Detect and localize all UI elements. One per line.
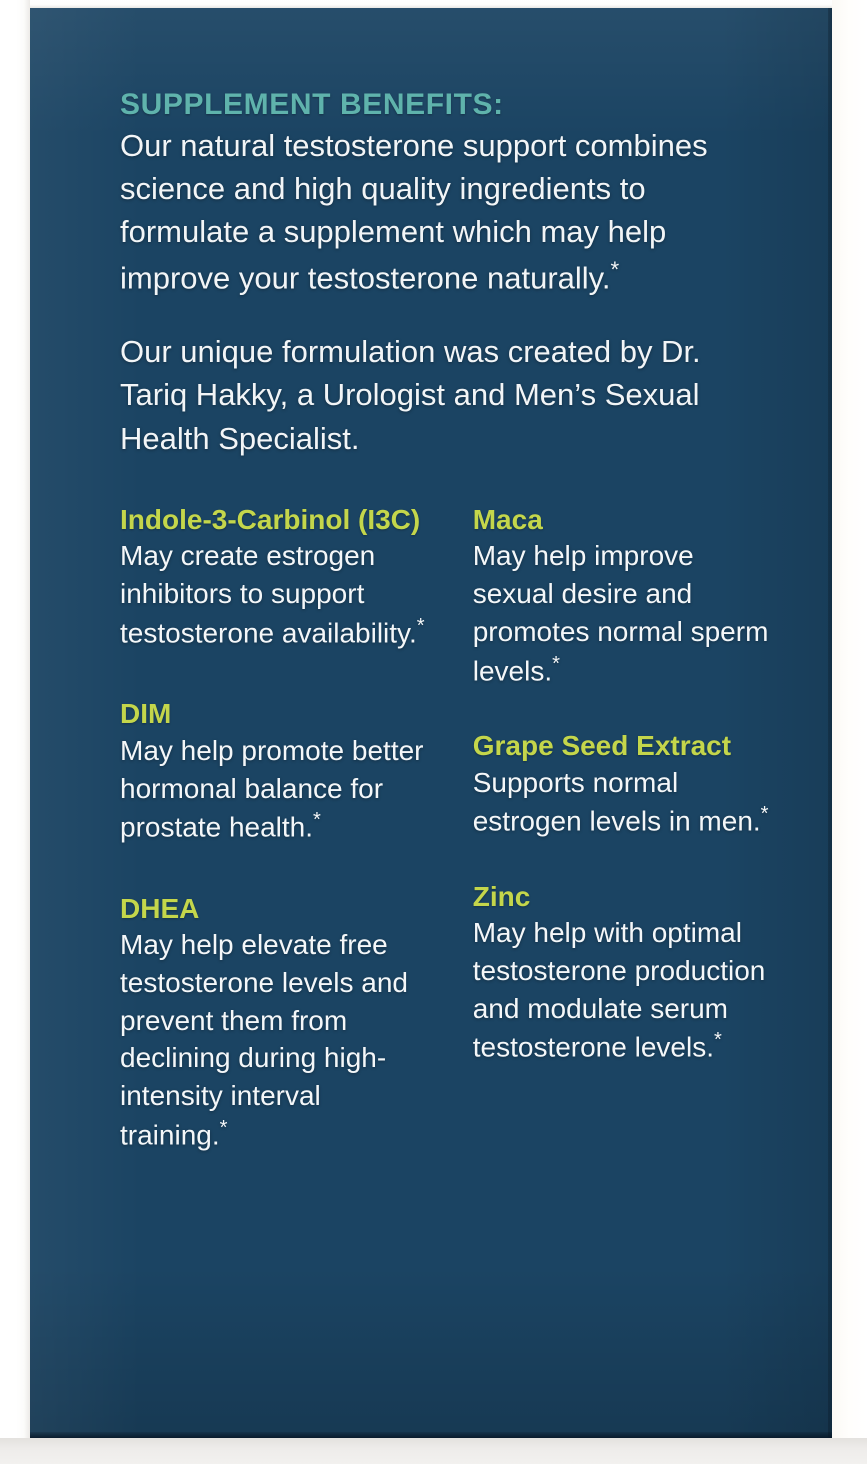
section-heading-supplement-benefits: SUPPLEMENT BENEFITS: [120, 88, 776, 122]
ingredient-name-indole-3-carbinol: Indole-3-Carbinol (I3C) [120, 504, 433, 536]
ingredient-block-zinc: Zinc May help with optimal testosterone … [473, 881, 776, 1067]
ingredient-description-text: May create estrogen inhibitors to suppor… [120, 540, 417, 648]
ingredient-block-grape-seed-extract: Grape Seed Extract Supports normal estro… [473, 730, 776, 841]
footnote-asterisk: * [552, 653, 560, 675]
ingredient-column-left: Indole-3-Carbinol (I3C) May create estro… [120, 504, 433, 1154]
panel-content: SUPPLEMENT BENEFITS: Our natural testost… [30, 8, 832, 1154]
package-right-margin [832, 0, 867, 1464]
panel-bottom-fold-edge [30, 1432, 832, 1438]
ingredient-description-grape-seed-extract: Supports normal estrogen levels in men.* [473, 764, 776, 841]
ingredient-description-indole-3-carbinol: May create estrogen inhibitors to suppor… [120, 537, 433, 652]
package-top-margin [0, 0, 867, 8]
ingredient-block-maca: Maca May help improve sexual desire and … [473, 504, 776, 690]
ingredient-block-dim: DIM May help promote better hormonal bal… [120, 698, 433, 846]
ingredient-column-right: Maca May help improve sexual desire and … [473, 504, 776, 1154]
ingredient-block-indole-3-carbinol: Indole-3-Carbinol (I3C) May create estro… [120, 504, 433, 652]
ingredient-name-dhea: DHEA [120, 893, 433, 925]
footnote-asterisk: * [220, 1117, 228, 1139]
footnote-asterisk: * [313, 809, 321, 831]
intro-paragraph-formulation: Our unique formulation was created by Dr… [120, 330, 760, 460]
ingredient-name-grape-seed-extract: Grape Seed Extract [473, 730, 776, 762]
ingredient-name-zinc: Zinc [473, 881, 776, 913]
supplement-package-panel: SUPPLEMENT BENEFITS: Our natural testost… [0, 0, 867, 1464]
footnote-asterisk: * [714, 1029, 722, 1051]
ingredient-description-text: May help improve sexual desire and promo… [473, 540, 769, 686]
package-left-margin [0, 0, 30, 1464]
ingredient-description-dhea: May help elevate free testosterone level… [120, 926, 433, 1154]
package-bottom-margin [0, 1438, 867, 1464]
ingredient-description-dim: May help promote better hormonal balance… [120, 732, 433, 847]
ingredient-grid: Indole-3-Carbinol (I3C) May create estro… [120, 504, 776, 1154]
footnote-asterisk: * [417, 615, 425, 637]
intro-paragraph-benefits: Our natural testosterone support combine… [120, 124, 760, 300]
supplement-benefits-label: SUPPLEMENT BENEFITS: Our natural testost… [30, 8, 832, 1438]
ingredient-name-dim: DIM [120, 698, 433, 730]
ingredient-description-text: May help elevate free testosterone level… [120, 929, 408, 1150]
intro-paragraph-benefits-text: Our natural testosterone support combine… [120, 128, 708, 296]
ingredient-name-maca: Maca [473, 504, 776, 536]
ingredient-description-zinc: May help with optimal testosterone produ… [473, 914, 776, 1067]
ingredient-description-maca: May help improve sexual desire and promo… [473, 537, 776, 690]
ingredient-description-text: May help promote better hormonal balance… [120, 735, 424, 843]
ingredient-description-text: Supports normal estrogen levels in men. [473, 767, 761, 837]
footnote-asterisk: * [611, 257, 620, 282]
ingredient-block-dhea: DHEA May help elevate free testosterone … [120, 893, 433, 1155]
footnote-asterisk: * [761, 803, 769, 825]
